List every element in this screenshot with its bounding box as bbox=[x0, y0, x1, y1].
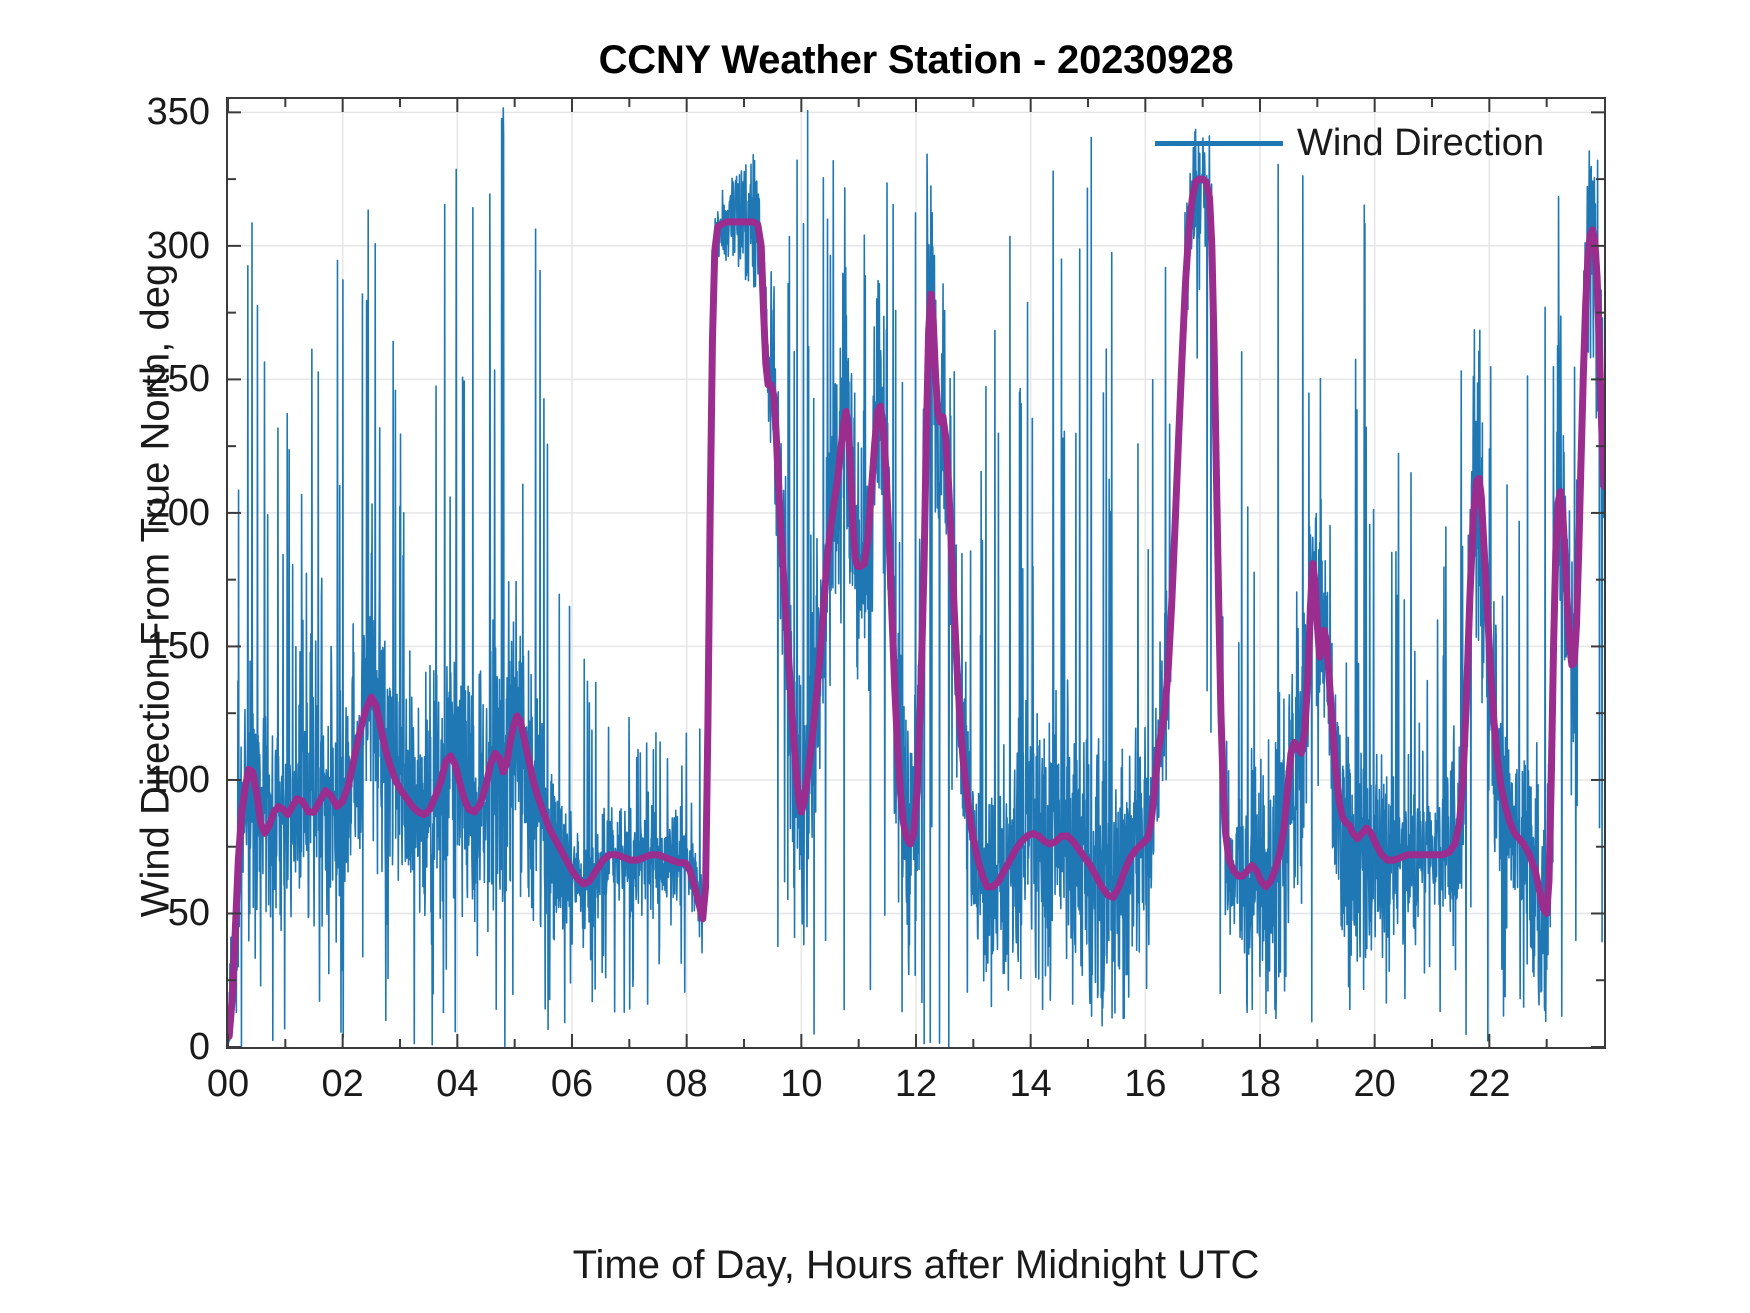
x-tick-label: 20 bbox=[1315, 1065, 1435, 1103]
legend-line-swatch bbox=[1155, 141, 1283, 146]
x-tick-label: 08 bbox=[627, 1065, 747, 1103]
x-tick-label: 16 bbox=[1085, 1065, 1205, 1103]
figure-canvas: CCNY Weather Station - 20230928 05010015… bbox=[0, 0, 1750, 1313]
x-tick-label: 10 bbox=[741, 1065, 861, 1103]
x-tick-label: 04 bbox=[397, 1065, 517, 1103]
x-tick-label: 18 bbox=[1200, 1065, 1320, 1103]
x-tick-label: 00 bbox=[168, 1065, 288, 1103]
legend-label-wind-direction: Wind Direction bbox=[1297, 122, 1544, 165]
x-axis-tick-labels: 000204060810121416182022 bbox=[0, 0, 1750, 1313]
x-tick-label: 14 bbox=[971, 1065, 1091, 1103]
x-tick-label: 22 bbox=[1429, 1065, 1549, 1103]
x-axis-label: Time of Day, Hours after Midnight UTC bbox=[226, 1243, 1606, 1288]
x-tick-label: 02 bbox=[283, 1065, 403, 1103]
legend: Wind Direction bbox=[1145, 118, 1554, 169]
x-tick-label: 12 bbox=[856, 1065, 976, 1103]
y-axis-label: Wind Direction From True North, deg bbox=[134, 115, 179, 1067]
x-tick-label: 06 bbox=[512, 1065, 632, 1103]
